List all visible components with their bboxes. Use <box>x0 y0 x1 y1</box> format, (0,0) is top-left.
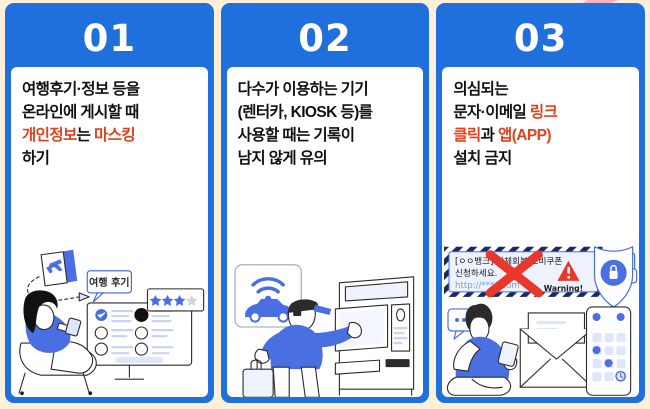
card-02-line-2: (렌터카, KIOSK 등)를 <box>238 102 413 125</box>
text-segment-highlight: 앱(APP) <box>498 127 551 144</box>
text-segment: 의심되는 <box>453 81 508 98</box>
card-02-line-3: 사용할 때는 기록이 <box>238 125 413 148</box>
text-segment: 하기 <box>22 150 49 167</box>
card-text-01: 여행후기·정보 등을 온라인에 게시할 때 개인정보는 마스킹 하기 <box>11 67 208 175</box>
card-01-line-3: 개인정보는 마스킹 <box>22 125 197 148</box>
text-segment: 문자·이메일 <box>453 104 530 121</box>
illustration-03: .l3{fill:none;stroke:#2b2b2b;stroke-widt… <box>442 175 639 397</box>
text-segment: 온라인에 게시할 때 <box>22 104 139 121</box>
text-segment: 여행후기·정보 등을 <box>22 81 140 98</box>
card-01-line-1: 여행후기·정보 등을 <box>22 79 197 102</box>
card-body-03: 의심되는 문자·이메일 링크 클릭과 앱(APP) 설치 금지 . <box>442 67 639 397</box>
card-01-line-2: 온라인에 게시할 때 <box>22 102 197 125</box>
text-segment: 다수가 이용하는 기기 <box>238 81 368 98</box>
envelope-mail-icon <box>521 313 593 387</box>
warning-label: Warning! <box>544 284 583 293</box>
card-02[interactable]: 02 다수가 이용하는 기기 (렌터카, KIOSK 등)를 사용할 때는 기록… <box>221 3 430 403</box>
airplane-ticket-icon <box>41 249 77 285</box>
woman-on-chair-with-phone <box>19 290 96 395</box>
desktop-monitor-review-list <box>87 303 191 379</box>
card-number-02: 02 <box>227 9 424 67</box>
phishing-line-2: 신청하세요. <box>455 268 497 279</box>
card-number-03: 03 <box>442 9 639 67</box>
card-03-line-4: 설치 금지 <box>453 148 628 171</box>
card-text-02: 다수가 이용하는 기기 (렌터카, KIOSK 등)를 사용할 때는 기록이 남… <box>227 67 424 175</box>
text-segment-highlight: 클릭 <box>453 127 480 144</box>
card-list: 01 여행후기·정보 등을 온라인에 게시할 때 개인정보는 마스킹 하기 .l… <box>5 3 645 403</box>
star-rating-icon <box>147 289 203 311</box>
card-03-line-2: 문자·이메일 링크 <box>453 102 628 125</box>
card-03-line-1: 의심되는 <box>453 79 628 102</box>
card-02-line-4: 남지 않게 유의 <box>238 148 413 171</box>
card-body-01: 여행후기·정보 등을 온라인에 게시할 때 개인정보는 마스킹 하기 .ln{f… <box>11 67 208 397</box>
card-number-01: 01 <box>11 9 208 67</box>
shield-lock-icon <box>595 246 633 306</box>
text-segment: 는 <box>77 127 94 144</box>
illustration-01: .ln{fill:none;stroke:#2b2b2b;stroke-widt… <box>11 175 208 397</box>
card-01-line-4: 하기 <box>22 148 197 171</box>
text-segment: 사용할 때는 기록이 <box>238 127 355 144</box>
card-body-02: 다수가 이용하는 기기 (렌터카, KIOSK 등)를 사용할 때는 기록이 남… <box>227 67 424 397</box>
text-segment-highlight: 개인정보 <box>22 127 77 144</box>
text-segment: 과 <box>481 127 498 144</box>
card-text-03: 의심되는 문자·이메일 링크 클릭과 앱(APP) 설치 금지 <box>442 67 639 175</box>
illustration-02: .l2{fill:none;stroke:#2b2b2b;stroke-widt… <box>227 175 424 397</box>
card-03-line-3: 클릭과 앱(APP) <box>453 125 628 148</box>
text-segment: 설치 금지 <box>453 150 511 167</box>
phishing-message-box: [ㅇㅇ뱅크] 단체회복 소비쿠폰 신청하세요. http://****.com <box>444 246 603 296</box>
smartphone-app-grid-icon <box>587 307 631 395</box>
infographic-root: 01 여행후기·정보 등을 온라인에 게시할 때 개인정보는 마스킹 하기 .l… <box>0 0 650 409</box>
text-segment-highlight: 링크 <box>530 104 557 121</box>
speech-bubble-travel-review: 여행 후기 <box>87 271 131 302</box>
card-01[interactable]: 01 여행후기·정보 등을 온라인에 게시할 때 개인정보는 마스킹 하기 .l… <box>5 3 214 403</box>
card-03[interactable]: 03 의심되는 문자·이메일 링크 클릭과 앱(APP) 설치 금지 <box>436 3 645 403</box>
text-segment: (렌터카, KIOSK 등)를 <box>238 104 373 121</box>
speech-bubble-label: 여행 후기 <box>89 276 129 289</box>
text-segment-highlight: 마스킹 <box>94 127 135 144</box>
card-02-line-1: 다수가 이용하는 기기 <box>238 79 413 102</box>
text-segment: 남지 않게 유의 <box>238 150 327 167</box>
